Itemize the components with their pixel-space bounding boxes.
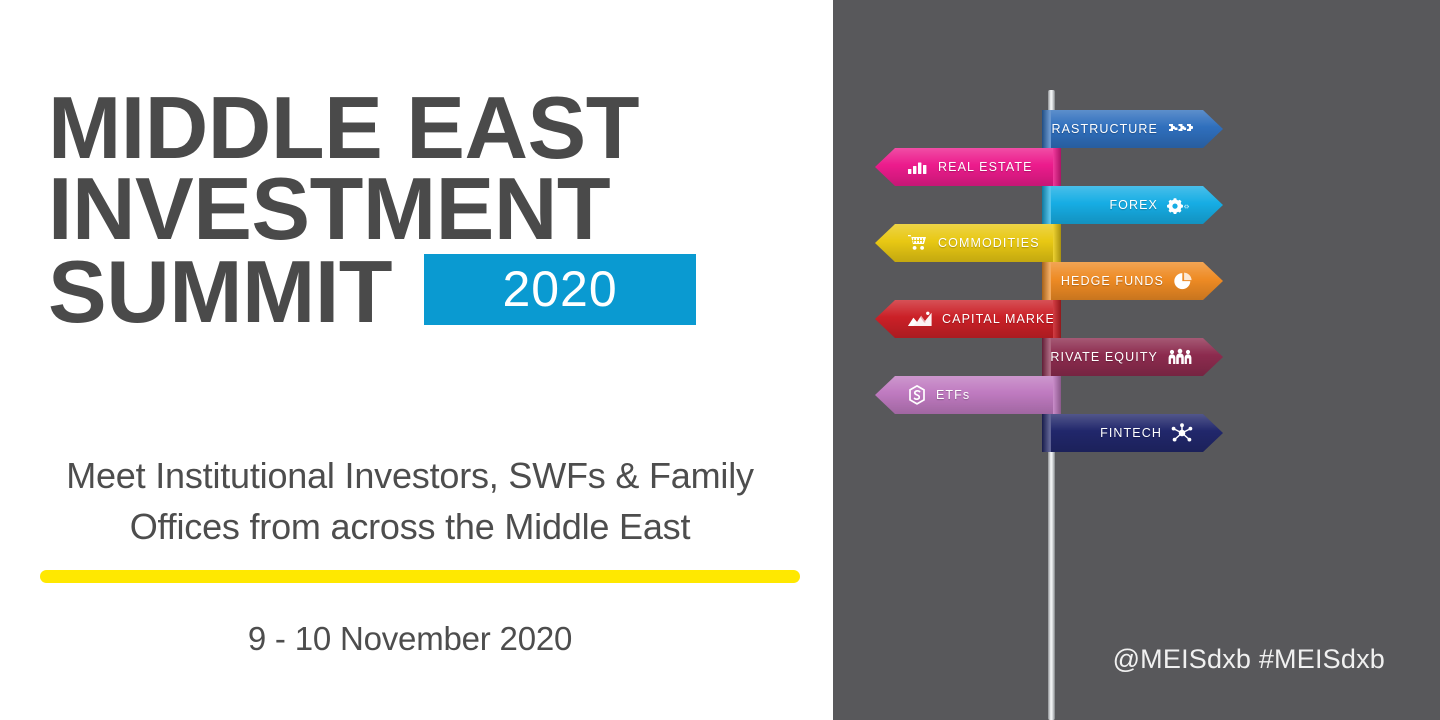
- gear-icon: [1167, 196, 1193, 214]
- mountain-chart-icon: [907, 311, 933, 328]
- sign-capital-markets: CAPITAL MARKETS: [875, 300, 1053, 338]
- sign-private-equity: PRIVATE EQUITY: [1051, 338, 1223, 376]
- bar-chart-icon: [907, 159, 929, 175]
- sign-real-estate: REAL ESTATE: [875, 148, 1053, 186]
- sign-etfs: ETFs: [875, 376, 1053, 414]
- logo-line-investment: INVESTMENT: [48, 169, 778, 250]
- sign-label-etfs: ETFs: [936, 388, 970, 402]
- hexagon-swirl-icon: [907, 385, 927, 405]
- subtitle-line-2: Offices from across the Middle East: [40, 501, 780, 552]
- sign-hedge-funds: HEDGE FUNDS: [1051, 262, 1223, 300]
- signpost-pole-bottom: [1048, 440, 1055, 720]
- logo-line-summit-row: SUMMIT 2020: [48, 252, 778, 333]
- sign-infrastructure: INFRASTRUCTURE: [1051, 110, 1223, 148]
- year-badge: 2020: [424, 254, 696, 325]
- year-badge-label: 2020: [502, 264, 617, 314]
- sign-forex: FOREX: [1051, 186, 1223, 224]
- sign-commodities: COMMODITIES: [875, 224, 1053, 262]
- pie-chart-icon: [1173, 272, 1193, 290]
- yellow-divider-rule: [40, 570, 800, 583]
- sign-label-hedge-funds: HEDGE FUNDS: [1061, 274, 1164, 288]
- subtitle-line-1: Meet Institutional Investors, SWFs & Fam…: [40, 450, 780, 501]
- network-nodes-icon: [1171, 423, 1193, 443]
- logo-line-middle-east: MIDDLE EAST: [48, 88, 778, 169]
- people-group-icon: [1167, 348, 1193, 366]
- sign-label-commodities: COMMODITIES: [938, 236, 1040, 250]
- left-content-panel: MIDDLE EAST INVESTMENT SUMMIT 2020 Meet …: [0, 0, 833, 720]
- event-logo: MIDDLE EAST INVESTMENT SUMMIT 2020: [48, 88, 778, 333]
- sign-label-private-equity: PRIVATE EQUITY: [1041, 350, 1158, 364]
- page-subtitle: Meet Institutional Investors, SWFs & Fam…: [40, 450, 780, 552]
- sign-label-forex: FOREX: [1109, 198, 1158, 212]
- puzzle-icon: [1167, 121, 1193, 137]
- logo-line-summit: SUMMIT: [48, 252, 392, 333]
- social-handle: @MEISdxb #MEISdxb: [1113, 644, 1385, 675]
- right-graphic-panel: INFRASTRUCTURE REAL ESTATEFOREX COMMODIT…: [833, 0, 1440, 720]
- signpost-graphic: INFRASTRUCTURE REAL ESTATEFOREX COMMODIT…: [833, 0, 1440, 720]
- sign-label-real-estate: REAL ESTATE: [938, 160, 1033, 174]
- sign-label-fintech: FINTECH: [1100, 426, 1162, 440]
- poster-canvas: MIDDLE EAST INVESTMENT SUMMIT 2020 Meet …: [0, 0, 1440, 720]
- event-dates: 9 - 10 November 2020: [40, 620, 780, 658]
- shopping-cart-icon: [907, 234, 929, 252]
- sign-fintech: FINTECH: [1051, 414, 1223, 452]
